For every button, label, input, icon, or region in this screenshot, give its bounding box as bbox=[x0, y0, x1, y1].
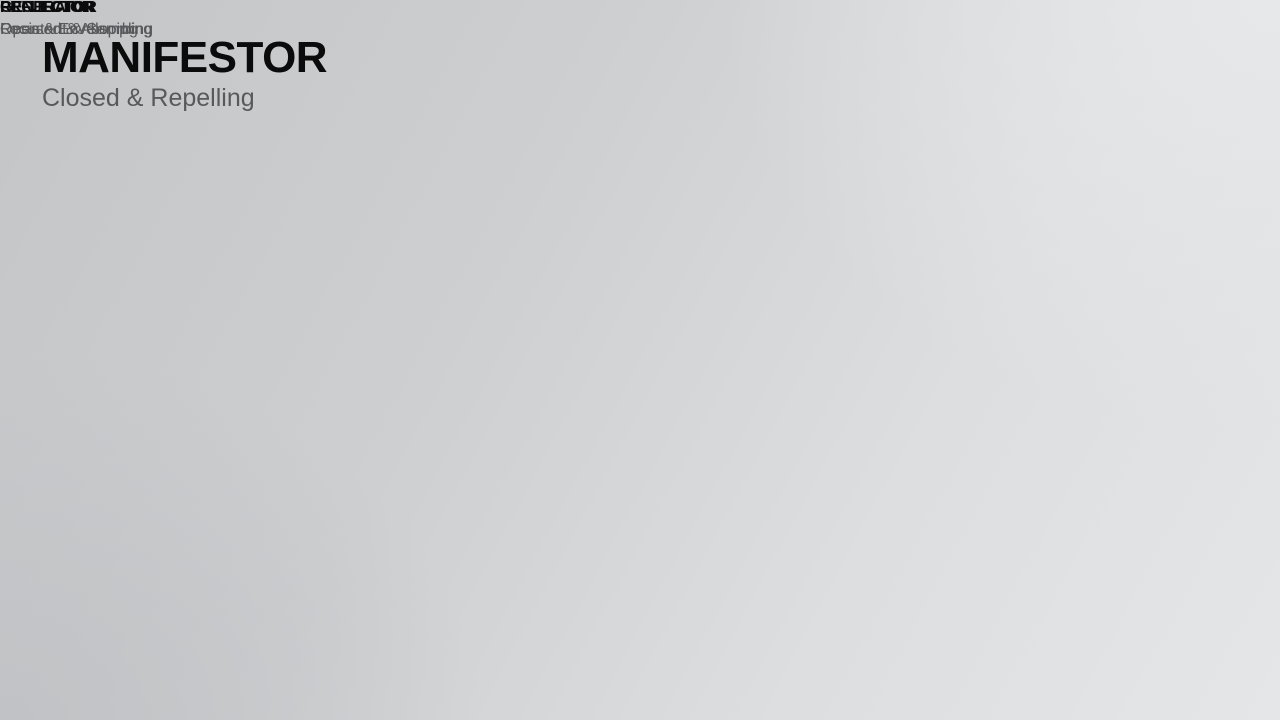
infographic-stage: MANIFESTOR Closed & Repelling GENERATOR … bbox=[0, 0, 1280, 720]
type-subtitle-reflector: Resistant & Sampling bbox=[0, 21, 153, 39]
type-subtitle-manifestor: Closed & Repelling bbox=[42, 85, 327, 113]
type-title-manifestor: MANIFESTOR bbox=[42, 36, 327, 80]
title-block-reflector: REFLECTOR Resistant & Sampling bbox=[0, 0, 153, 39]
title-block-manifestor: MANIFESTOR Closed & Repelling bbox=[42, 36, 327, 113]
type-panel-manifestor[interactable] bbox=[40, 122, 360, 437]
type-title-reflector: REFLECTOR bbox=[0, 0, 153, 16]
